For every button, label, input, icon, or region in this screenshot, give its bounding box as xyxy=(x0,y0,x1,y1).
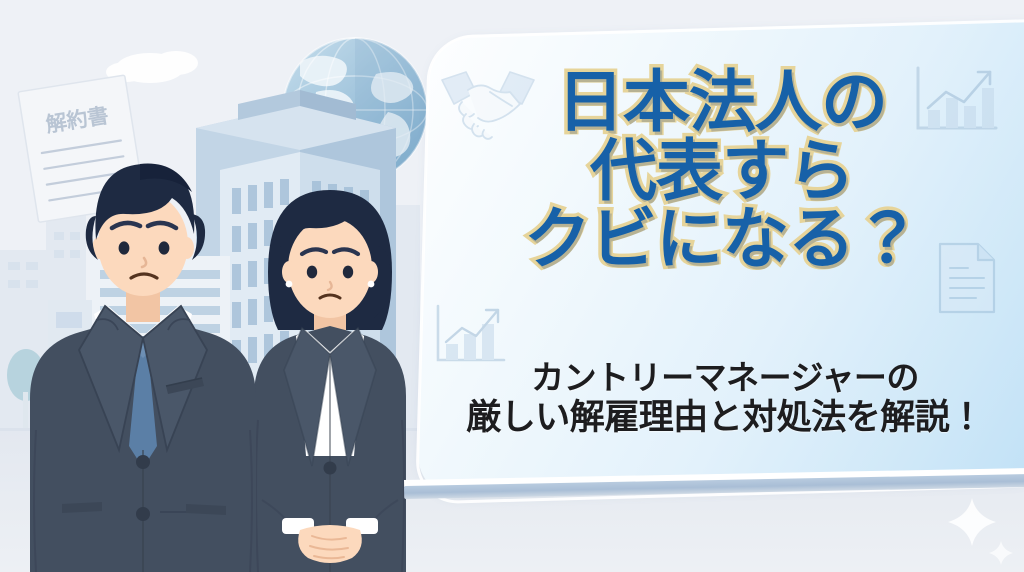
subhead-line-1: カントリーマネージャーの xyxy=(430,360,1020,397)
headline-text: 日本法人の 代表すら クビになる？ xyxy=(430,70,1014,276)
headline-line-1: 日本法人の xyxy=(430,70,1014,136)
headline-line-2: 代表すら xyxy=(430,139,1014,205)
sparkle-icon xyxy=(988,540,1014,566)
headline-line-3: クビになる？ xyxy=(430,207,1014,273)
subhead-line-2: 厳しい解雇理由と対処法を解説！ xyxy=(430,399,1020,438)
subhead-text: カントリーマネージャーの 厳しい解雇理由と対処法を解説！ xyxy=(430,360,1020,438)
thumbnail-canvas: 解約書 xyxy=(0,0,1024,572)
